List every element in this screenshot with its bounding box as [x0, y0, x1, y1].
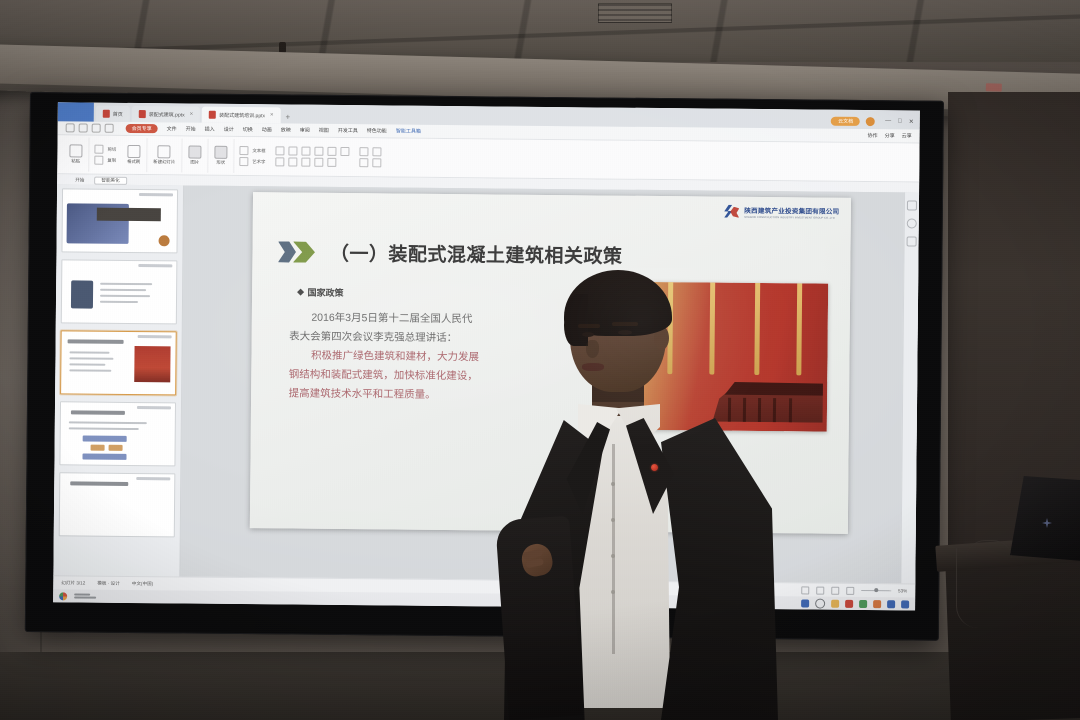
slide-title-row: （一）装配式混凝土建筑相关政策	[278, 238, 623, 268]
display-bezel: 首页 装配式建筑.pptx × 装配式建筑培训.pptx × + 云	[25, 92, 944, 641]
cut-label: 剪切	[107, 146, 116, 152]
presenter	[508, 268, 776, 720]
thumb-seal-icon	[159, 235, 170, 246]
underline-icon[interactable]	[302, 147, 311, 156]
thumbnail-slide-1[interactable]	[61, 188, 178, 253]
slide-bullet-heading: 国家政策	[308, 286, 344, 299]
ribbon-tab-design[interactable]: 设计	[224, 126, 234, 133]
ribbon-group-font[interactable]	[270, 146, 354, 167]
textbox-label: 文本框	[252, 148, 265, 154]
cloud-icon[interactable]	[901, 600, 909, 608]
tab-title: 装配式建筑培训.pptx	[219, 111, 265, 118]
valance-marking	[986, 83, 1002, 91]
status-slide-counter: 幻灯片 3/12	[61, 580, 85, 586]
ppt-file-icon	[103, 110, 110, 118]
search-icon[interactable]	[815, 598, 825, 608]
print-icon[interactable]	[105, 124, 114, 133]
align-center-icon[interactable]	[288, 157, 297, 166]
subbar-item-start[interactable]: 开始	[75, 177, 84, 183]
shape-icon[interactable]	[214, 146, 227, 159]
tabbar-right-cluster[interactable]: 云文档 — □ ✕	[831, 117, 920, 130]
ribbon-group-paste[interactable]: 粘贴	[63, 137, 89, 171]
sorter-view-icon[interactable]	[816, 586, 824, 594]
wps-icon[interactable]	[845, 599, 853, 607]
ribbon-tab-slideshow[interactable]: 放映	[281, 126, 291, 133]
taskbar-icons[interactable]	[801, 598, 909, 609]
cloud-docs-button[interactable]: 云文档	[831, 117, 860, 126]
ribbon-group-label: 图片	[190, 160, 199, 166]
thumbnail-slide-2[interactable]	[61, 259, 178, 324]
ribbon-group-format-painter[interactable]: 格式刷	[121, 138, 148, 172]
format-painter-icon[interactable]	[127, 145, 140, 158]
presenter-sideburn	[564, 294, 588, 346]
wordart-icon[interactable]	[239, 157, 248, 166]
normal-view-icon[interactable]	[801, 586, 809, 594]
weather-widget[interactable]	[74, 593, 96, 598]
conference-room-scene: 首页 装配式建筑.pptx × 装配式建筑培训.pptx × + 云	[0, 0, 1080, 720]
browser-icon[interactable]	[859, 599, 867, 607]
textbox-icon[interactable]	[239, 146, 248, 155]
thumbnail-slide-3-selected[interactable]	[60, 330, 177, 395]
diamond-bullet-icon	[297, 289, 304, 296]
align-right-icon[interactable]	[301, 158, 310, 167]
display-screen[interactable]: 首页 装配式建筑.pptx × 装配式建筑培训.pptx × + 云	[53, 102, 920, 610]
status-language[interactable]: 中文(中国)	[132, 580, 153, 586]
ribbon-tab-review[interactable]: 审阅	[300, 127, 310, 134]
picture-icon[interactable]	[188, 146, 201, 159]
ribbon-group-new-slide[interactable]: 新建幻灯片	[147, 138, 182, 172]
cloud-label[interactable]: 云享	[902, 132, 912, 139]
slide-bullet-heading-row: 国家政策	[298, 286, 344, 299]
start-icon[interactable]	[59, 592, 67, 600]
document-tab-2[interactable]: 装配式建筑.pptx ×	[132, 106, 201, 123]
ribbon-group-shape[interactable]: 形状	[208, 139, 234, 173]
presenter-mouth	[582, 363, 604, 371]
close-icon[interactable]: ×	[190, 112, 194, 118]
ribbon-tab-developer[interactable]: 开发工具	[338, 127, 358, 134]
ppt-file-icon	[139, 110, 146, 118]
chat-icon[interactable]	[873, 600, 881, 608]
document-tab-1[interactable]: 首页	[96, 106, 130, 122]
window-controls[interactable]: — □ ✕	[881, 118, 914, 125]
air-vent-icon	[598, 3, 672, 23]
ribbon-tab-file[interactable]: 文件	[167, 125, 177, 132]
presenter-nose	[586, 340, 599, 358]
ribbon-tab-features[interactable]: 特色功能	[367, 127, 387, 134]
strikethrough-icon[interactable]	[315, 147, 324, 156]
folder-icon[interactable]	[831, 599, 839, 607]
cable	[956, 548, 1001, 628]
collab-label[interactable]: 协作	[868, 132, 878, 139]
reading-view-icon[interactable]	[831, 586, 839, 594]
font-color-icon[interactable]	[328, 147, 337, 156]
select-icon[interactable]	[372, 158, 381, 167]
document-tab-3-active[interactable]: 装配式建筑培训.pptx ×	[202, 107, 281, 124]
ribbon-group-label: 粘贴	[71, 158, 80, 164]
thumb-badge-icon	[71, 280, 93, 308]
ribbon-tab-view[interactable]: 视图	[319, 127, 329, 134]
cut-icon[interactable]	[94, 145, 103, 154]
italic-icon[interactable]	[289, 146, 298, 155]
company-name-cn: 陕西建筑产业投资集团有限公司	[744, 204, 839, 215]
save-icon[interactable]	[66, 123, 75, 132]
chevron-bullet-icon	[278, 241, 318, 262]
maximize-icon[interactable]: □	[898, 118, 902, 125]
wps-presentation-window[interactable]: 首页 装配式建筑.pptx × 装配式建筑培训.pptx × + 云	[53, 102, 920, 610]
thumbnail-slide-4[interactable]	[59, 401, 176, 466]
ribbon-tab-member[interactable]: 会员专享	[126, 124, 158, 133]
status-right-cluster[interactable]: 53%	[801, 586, 907, 595]
undo-icon[interactable]	[79, 123, 88, 132]
align-left-icon[interactable]	[275, 157, 284, 166]
slide-title: （一）装配式混凝土建筑相关政策	[330, 239, 623, 269]
ribbon-group-clipboard-small[interactable]: 剪切 复制	[89, 145, 121, 165]
slide-thumbnail-panel[interactable]	[53, 184, 184, 577]
explorer-icon[interactable]	[801, 599, 809, 607]
tab-title: 装配式建筑.pptx	[149, 111, 185, 118]
new-tab-button[interactable]: +	[285, 112, 290, 121]
design-ideas-icon[interactable]	[907, 200, 917, 210]
home-tab[interactable]	[58, 102, 94, 121]
ribbon-group-arrange[interactable]	[354, 147, 386, 167]
thumb-title-band	[97, 208, 161, 222]
ppt-file-icon	[209, 111, 216, 119]
slideshow-icon[interactable]	[846, 586, 854, 594]
tab-title: 首页	[113, 110, 123, 117]
ribbon-group-label: 新建幻灯片	[153, 159, 175, 165]
share-label[interactable]: 分享	[885, 132, 895, 139]
ribbon-group-label: 格式刷	[127, 159, 140, 165]
ribbon-group-label: 形状	[216, 160, 225, 166]
settings-icon[interactable]	[907, 218, 917, 228]
thumb-red-photo	[134, 346, 170, 382]
mail-icon[interactable]	[887, 600, 895, 608]
close-icon[interactable]: ×	[270, 112, 274, 118]
company-name-en: SHAANXI CONSTRUCTION INDUSTRY INVESTMENT…	[744, 215, 839, 219]
arrange-icon[interactable]	[360, 147, 369, 156]
ribbon-tab-toolbox[interactable]: 智能工具箱	[396, 128, 421, 135]
find-icon[interactable]	[359, 158, 368, 167]
highlight-icon[interactable]	[341, 147, 350, 156]
minimize-icon[interactable]: —	[885, 118, 891, 125]
ribbon-tab-insert[interactable]: 插入	[205, 126, 215, 133]
workspace: 陕西建筑产业投资集团有限公司 SHAANXI CONSTRUCTION INDU…	[53, 184, 919, 584]
new-slide-icon[interactable]	[158, 145, 171, 158]
wordart-label: 艺术字	[252, 159, 265, 165]
status-template[interactable]: 模板 · 设计	[97, 580, 120, 586]
presenter-lapel-pin	[651, 464, 658, 471]
ribbon-right-cluster[interactable]: 协作 分享 云享	[868, 132, 912, 139]
ribbon-tab-transition[interactable]: 切换	[243, 126, 253, 133]
bold-icon[interactable]	[276, 146, 285, 155]
right-mini-toolbar[interactable]	[900, 192, 919, 584]
ribbon-tab-animation[interactable]: 动画	[262, 126, 272, 133]
ribbon-tab-home[interactable]: 开始	[186, 125, 196, 132]
presenter-shirt-placket	[612, 444, 615, 654]
comments-icon[interactable]	[907, 236, 917, 246]
close-window-icon[interactable]: ✕	[909, 118, 914, 125]
quick-access-toolbar[interactable]	[66, 123, 114, 132]
copy-icon[interactable]	[94, 156, 103, 165]
avatar[interactable]	[866, 117, 875, 126]
zoom-slider[interactable]	[861, 590, 891, 591]
bullets-icon[interactable]	[314, 158, 323, 167]
ribbon-group-picture[interactable]: 图片	[182, 138, 208, 172]
thumbnail-slide-5[interactable]	[59, 472, 176, 537]
quick-style-icon[interactable]	[373, 147, 382, 156]
zoom-level[interactable]: 53%	[898, 588, 907, 593]
numbering-icon[interactable]	[327, 158, 336, 167]
ribbon-group-text-small[interactable]: 文本框 艺术字	[234, 146, 270, 166]
copy-label: 复制	[107, 157, 116, 163]
company-logo-mark-icon	[724, 204, 740, 219]
redo-icon[interactable]	[92, 124, 101, 133]
company-logo: 陕西建筑产业投资集团有限公司 SHAANXI CONSTRUCTION INDU…	[724, 204, 839, 220]
paste-icon[interactable]	[69, 144, 82, 157]
